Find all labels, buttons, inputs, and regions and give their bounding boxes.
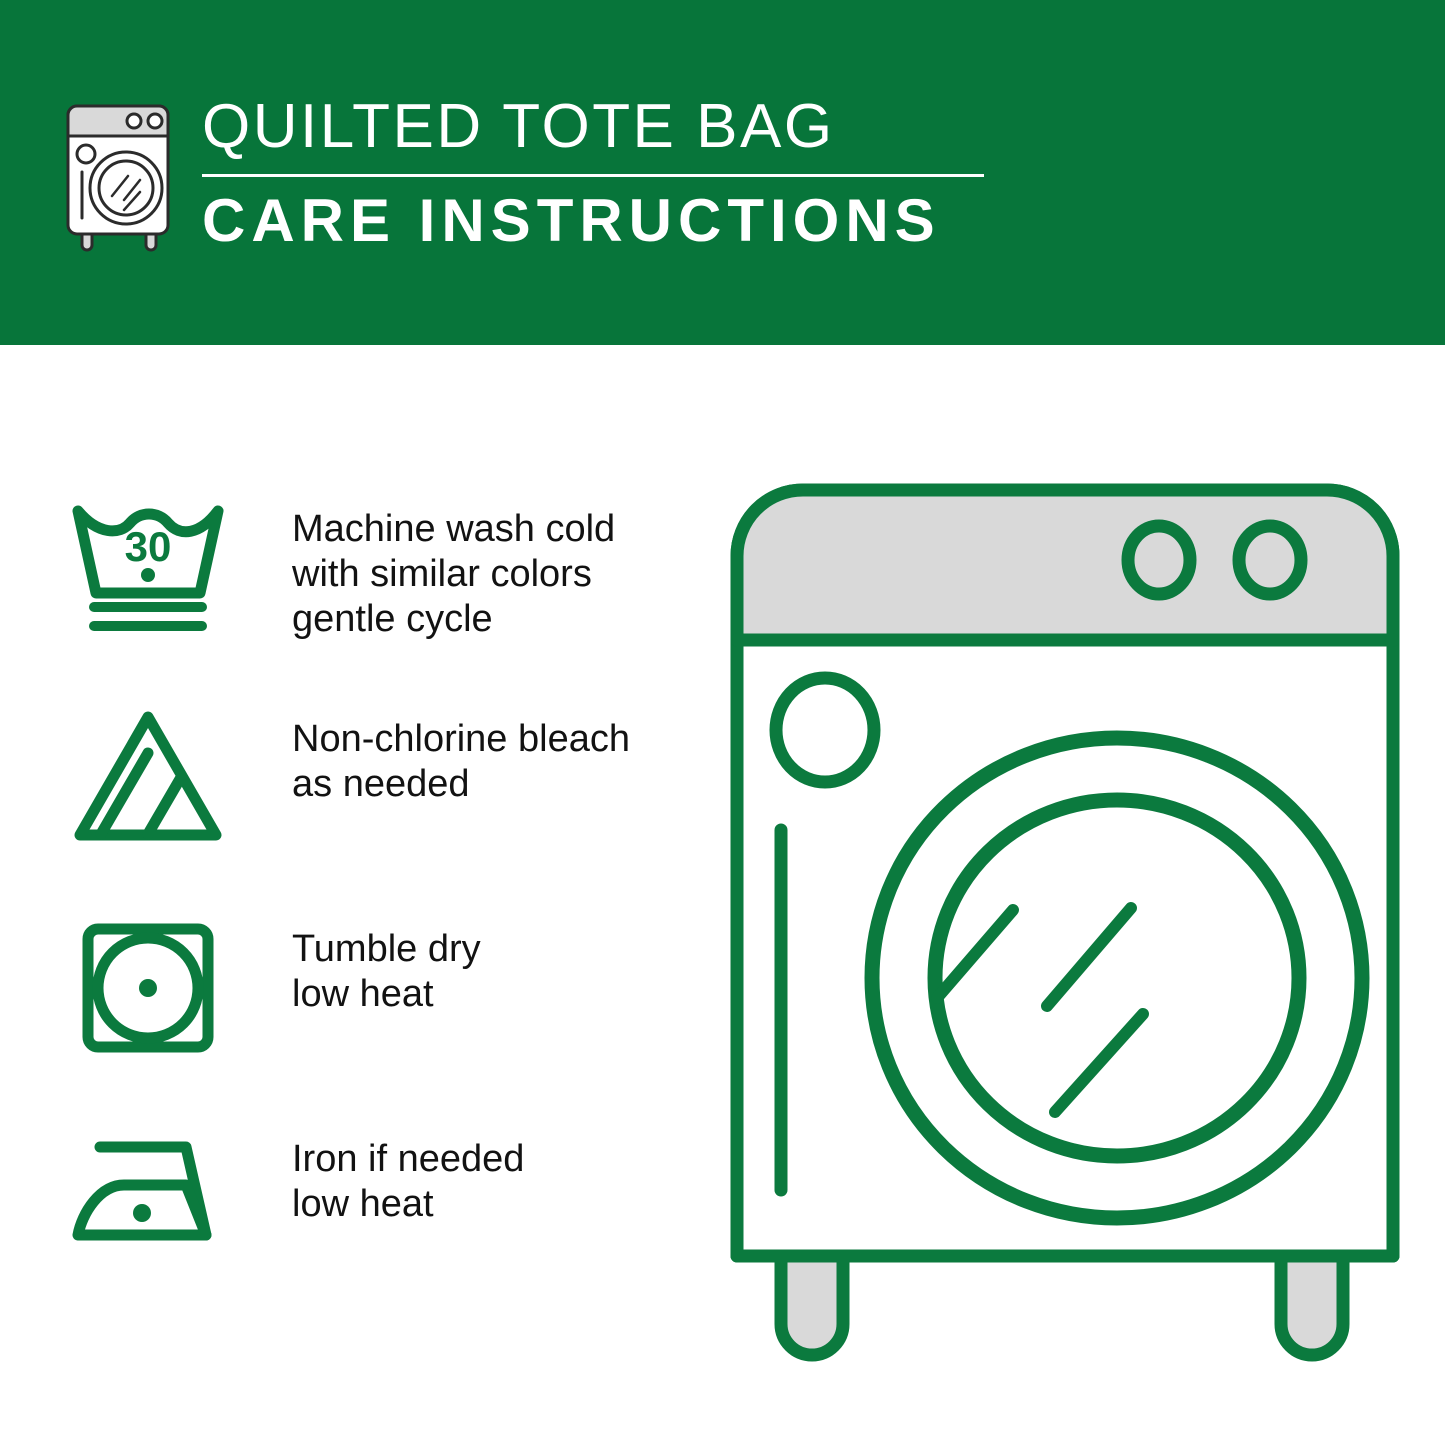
- front-load-washing-machine-illustration: [725, 478, 1405, 1368]
- care-line: with similar colors: [292, 552, 615, 597]
- care-text-iron: Iron if needed low heat: [292, 1117, 524, 1227]
- knob-left: [1128, 526, 1190, 594]
- header-banner: QUILTED TOTE BAG CARE INSTRUCTIONS: [0, 0, 1445, 345]
- detergent-port: [776, 678, 874, 782]
- care-line: Non-chlorine bleach: [292, 717, 630, 762]
- iron-heat-dot: [133, 1204, 151, 1222]
- care-line: low heat: [292, 1182, 524, 1227]
- care-row-machine-wash: 30 Machine wash cold with similar colors…: [62, 487, 702, 697]
- care-row-bleach: Non-chlorine bleach as needed: [62, 697, 702, 907]
- knob-right: [1239, 526, 1301, 594]
- header-content: QUILTED TOTE BAG CARE INSTRUCTIONS: [62, 96, 984, 252]
- non-chlorine-bleach-triangle-icon: [62, 697, 234, 853]
- care-instructions-infographic: QUILTED TOTE BAG CARE INSTRUCTIONS 30: [0, 0, 1445, 1445]
- wash-dot: [141, 568, 155, 582]
- care-line: Iron if needed: [292, 1137, 524, 1182]
- door-inner-ring: [935, 800, 1299, 1156]
- tumble-dry-low-icon: [62, 907, 234, 1063]
- page-title: QUILTED TOTE BAG: [202, 96, 984, 158]
- washing-machine-icon: [62, 100, 180, 252]
- care-line: gentle cycle: [292, 597, 615, 642]
- care-line: low heat: [292, 972, 481, 1017]
- wash-temperature-label: 30: [125, 523, 172, 570]
- care-instruction-list: 30 Machine wash cold with similar colors…: [62, 487, 702, 1327]
- title-divider: [202, 174, 984, 177]
- care-text-machine-wash: Machine wash cold with similar colors ge…: [292, 487, 615, 641]
- wash-tub-30-gentle-icon: 30: [62, 487, 234, 643]
- care-row-tumble-dry: Tumble dry low heat: [62, 907, 702, 1117]
- care-text-bleach: Non-chlorine bleach as needed: [292, 697, 630, 807]
- leg-left: [781, 1256, 843, 1355]
- page-subtitle: CARE INSTRUCTIONS: [202, 191, 984, 251]
- care-line: Tumble dry: [292, 927, 481, 972]
- care-text-tumble-dry: Tumble dry low heat: [292, 907, 481, 1017]
- tumble-dry-dot: [139, 979, 157, 997]
- header-title-group: QUILTED TOTE BAG CARE INSTRUCTIONS: [202, 96, 984, 251]
- care-line: Machine wash cold: [292, 507, 615, 552]
- care-line: as needed: [292, 762, 630, 807]
- leg-right: [1281, 1256, 1343, 1355]
- care-row-iron: Iron if needed low heat: [62, 1117, 702, 1327]
- iron-low-heat-icon: [62, 1117, 234, 1273]
